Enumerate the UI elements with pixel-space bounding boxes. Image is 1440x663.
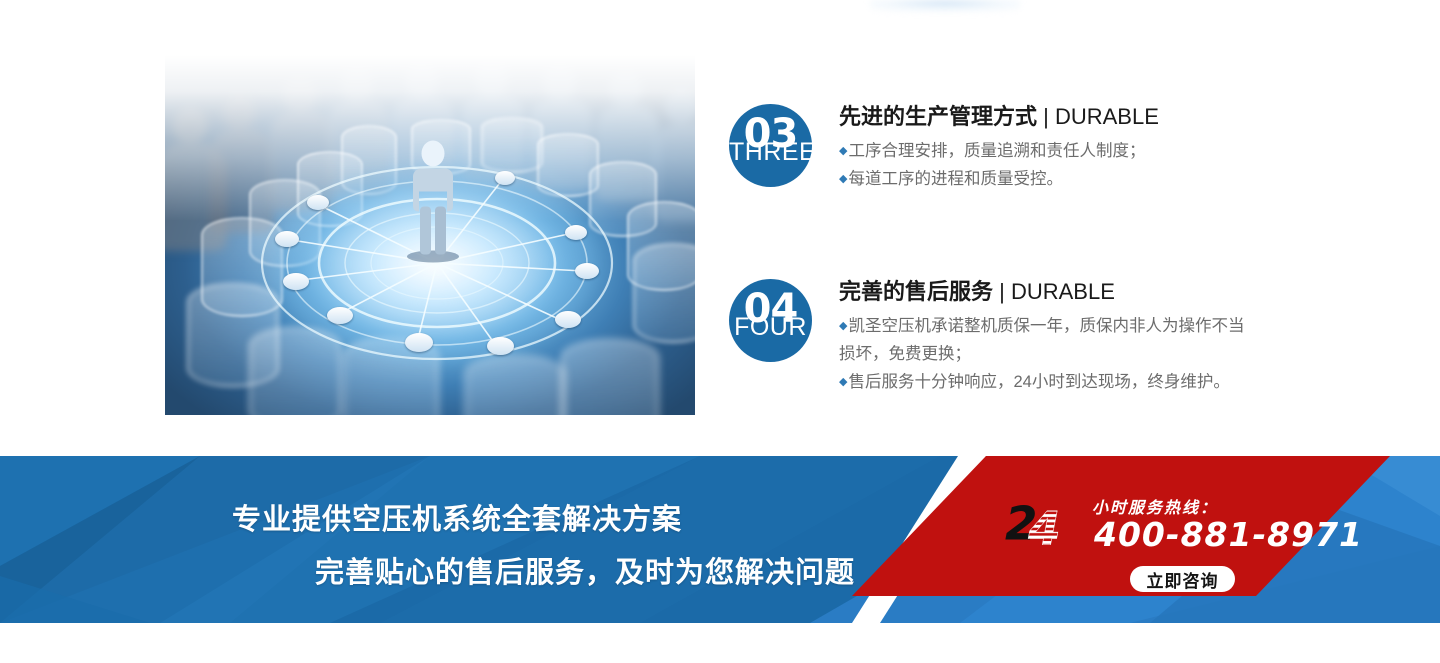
network-node (307, 195, 329, 210)
feature-bullet-text: 每道工序的进程和质量受控。 (848, 170, 1063, 188)
feature-bullet-line: ◆售后服务十分钟响应，24小时到达现场，终身维护。 (839, 368, 1259, 396)
network-node (327, 307, 353, 324)
feature-body: 先进的生产管理方式 | DURABLE ◆工序合理安排，质量追溯和责任人制度； … (839, 104, 1259, 193)
content-area: 03 THREE 先进的生产管理方式 | DURABLE ◆工序合理安排，质量追… (0, 0, 1440, 456)
diamond-bullet-icon: ◆ (839, 320, 847, 332)
network-node (405, 333, 433, 352)
feature-bullet-line: ◆每道工序的进程和质量受控。 (839, 165, 1259, 193)
network-node (575, 263, 599, 279)
feature-bullet-text: 工序合理安排，质量追溯和责任人制度； (848, 142, 1145, 160)
feature-bullet-text: 售后服务十分钟响应，24小时到达现场，终身维护。 (848, 373, 1229, 391)
feature-bullet-line: ◆凯圣空压机承诺整机质保一年，质保内非人为操作不当损坏，免费更换； (839, 312, 1259, 368)
network-node (495, 171, 515, 185)
diamond-bullet-icon: ◆ (839, 173, 847, 185)
promo-banner: 专业提供空压机系统全套解决方案 完善贴心的售后服务，及时为您解决问题 2 4 小… (0, 456, 1440, 623)
person-figure-icon (401, 140, 465, 265)
network-node (487, 337, 514, 355)
feature-bullet-line: ◆工序合理安排，质量追溯和责任人制度； (839, 137, 1259, 165)
network-node (283, 273, 309, 290)
feature-badge-03: 03 THREE (729, 104, 812, 187)
feature-word: FOUR (729, 315, 812, 340)
hotline-number: 400-881-8971 (1094, 515, 1363, 554)
network-node (275, 231, 299, 247)
feature-badge-04: 04 FOUR (729, 279, 812, 362)
banner-headlines: 专业提供空压机系统全套解决方案 完善贴心的售后服务，及时为您解决问题 (0, 456, 930, 623)
feature-title-sep: | (993, 279, 1011, 304)
hero-concept-image (165, 55, 695, 415)
banner-headline-2: 完善贴心的售后服务，及时为您解决问题 (315, 549, 855, 591)
feature-title: 先进的生产管理方式 | DURABLE (839, 104, 1259, 130)
feature-title-cn: 先进的生产管理方式 (839, 104, 1037, 129)
svg-text:4: 4 (1027, 502, 1060, 550)
feature-title-sep: | (1037, 104, 1055, 129)
hotline-area: 2 4 小时服务热线： 400-881-8971 立即咨询 (1000, 484, 1300, 604)
feature-title: 完善的售后服务 | DURABLE (839, 279, 1259, 305)
feature-bullet-text: 凯圣空压机承诺整机质保一年，质保内非人为操作不当损坏，免费更换； (839, 317, 1244, 363)
feature-body: 完善的售后服务 | DURABLE ◆凯圣空压机承诺整机质保一年，质保内非人为操… (839, 279, 1259, 396)
network-node (565, 225, 587, 240)
feature-title-cn: 完善的售后服务 (839, 279, 993, 304)
consult-now-button[interactable]: 立即咨询 (1130, 566, 1235, 592)
twentyfour-logo-icon: 2 4 (1000, 498, 1096, 550)
feature-title-en: DURABLE (1011, 279, 1115, 304)
banner-headline-1: 专业提供空压机系统全套解决方案 (232, 496, 682, 538)
feature-title-en: DURABLE (1055, 104, 1159, 129)
network-node (555, 311, 581, 328)
feature-word: THREE (729, 140, 812, 165)
diamond-bullet-icon: ◆ (839, 145, 847, 157)
diamond-bullet-icon: ◆ (839, 376, 847, 388)
